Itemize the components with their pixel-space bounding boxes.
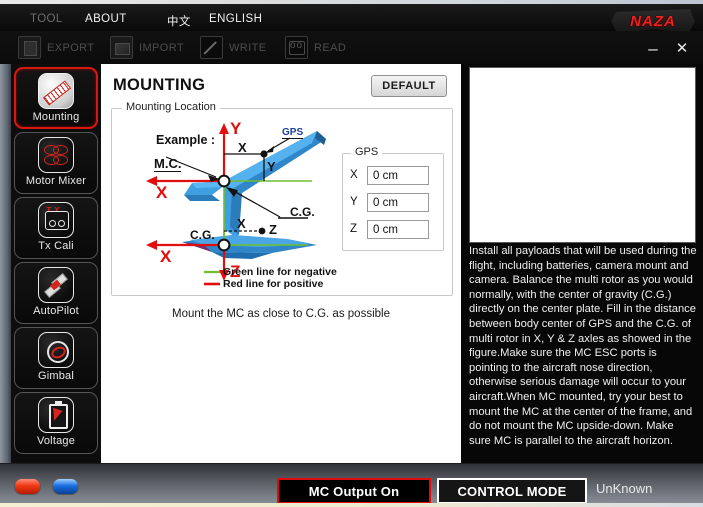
sidebar-label-mounting: Mounting: [33, 111, 80, 123]
battery-icon: [38, 397, 74, 433]
diagram-axis-x-left: X: [156, 183, 167, 203]
import-icon: [110, 36, 133, 59]
toolbar-button-read[interactable]: READ: [285, 36, 346, 59]
led-indicator-blue: [52, 478, 79, 495]
default-button[interactable]: DEFAULT: [371, 75, 447, 97]
transmitter-icon: TX: [38, 202, 74, 238]
naza-assistant-window: TOOL ABOUT 中文 ENGLISH NAZA EXPORT IMPORT…: [0, 0, 703, 507]
export-icon: [18, 36, 41, 59]
gps-offset-group: GPS X 0 cm Y 0 cm Z 0 cm: [342, 153, 444, 251]
sidebar-item-motor-mixer[interactable]: Motor Mixer: [14, 132, 98, 194]
propeller-icon: [38, 137, 74, 173]
toolbar: EXPORT IMPORT WRITE READ – ✕: [0, 31, 703, 65]
toolbar-label-export: EXPORT: [47, 42, 94, 54]
gimbal-icon: [38, 332, 74, 368]
sidebar-label-tx-cali: Tx Cali: [38, 240, 74, 252]
gps-input-y[interactable]: 0 cm: [367, 193, 429, 212]
diagram-cg-label-top: C.G.: [290, 205, 315, 219]
mounting-diagram: Example : M.C. GPS C.G. C.G. Y X X Y X X…: [112, 109, 362, 293]
gps-group-legend: GPS: [351, 146, 382, 158]
menu-item-chinese[interactable]: 中文: [167, 13, 191, 29]
instructions-text: Install all payloads that will be used d…: [469, 244, 698, 456]
read-icon: [285, 36, 308, 59]
sidebar-label-gimbal: Gimbal: [38, 370, 74, 382]
mounting-location-group: Mounting Location: [111, 108, 453, 296]
mc-output-status-badge: MC Output On: [277, 478, 431, 504]
led-indicator-red: [14, 478, 41, 495]
preview-panel: [469, 67, 696, 243]
window-bottom-edge: [0, 503, 703, 507]
diagram-legend-negative: Green line for negative: [223, 266, 337, 278]
diagram-legend-positive: Red line for positive: [223, 278, 323, 290]
diagram-example-label: Example :: [156, 133, 215, 147]
menu-item-tool[interactable]: TOOL: [30, 13, 63, 25]
gps-axis-label-x: X: [350, 169, 360, 181]
gps-axis-label-z: Z: [350, 223, 360, 235]
diagram-offset-y-top: Y: [267, 159, 276, 174]
sidebar-item-voltage[interactable]: Voltage: [14, 392, 98, 454]
sidebar-label-autopilot: AutoPilot: [33, 305, 79, 317]
sidebar-item-autopilot[interactable]: AutoPilot: [14, 262, 98, 324]
toolbar-label-import: IMPORT: [139, 42, 184, 54]
close-icon[interactable]: ✕: [673, 39, 691, 57]
toolbar-label-read: READ: [314, 42, 346, 54]
diagram-cg-label-side: C.G.: [190, 228, 215, 242]
sidebar-item-gimbal[interactable]: Gimbal: [14, 327, 98, 389]
menu-item-about[interactable]: ABOUT: [85, 13, 127, 25]
toolbar-button-import[interactable]: IMPORT: [110, 36, 184, 59]
gps-input-x[interactable]: 0 cm: [367, 166, 429, 185]
write-icon: [200, 36, 223, 59]
gps-row-z: Z 0 cm: [350, 218, 429, 240]
control-mode-value: UnKnown: [596, 481, 652, 496]
gps-axis-label-y: Y: [350, 196, 360, 208]
sidebar-item-tx-cali[interactable]: TX Tx Cali: [14, 197, 98, 259]
menu-bar: TOOL ABOUT 中文 ENGLISH NAZA: [0, 4, 703, 32]
sidebar: Mounting Motor Mixer TX Tx Cali AutoPilo…: [0, 64, 102, 463]
control-mode-label: CONTROL MODE: [437, 478, 587, 504]
logo-text: NAZA: [630, 13, 676, 30]
gps-row-y: Y 0 cm: [350, 191, 429, 213]
main-content-panel: MOUNTING DEFAULT Mounting Location: [101, 64, 461, 463]
diagram-offset-x-top: X: [238, 140, 247, 155]
diagram-axis-y: Y: [230, 119, 241, 139]
minimize-icon[interactable]: –: [644, 39, 662, 57]
sidebar-label-motor-mixer: Motor Mixer: [26, 175, 86, 187]
diagram-offset-z-side: Z: [269, 222, 277, 237]
toolbar-label-write: WRITE: [229, 42, 266, 54]
mounting-hint-text: Mount the MC as close to C.G. as possibl…: [101, 308, 461, 320]
sidebar-scroll-rail[interactable]: [0, 64, 11, 463]
sidebar-item-mounting[interactable]: Mounting: [14, 67, 98, 129]
satellite-icon: [38, 267, 74, 303]
diagram-gps-label: GPS: [282, 127, 303, 139]
gps-input-z[interactable]: 0 cm: [367, 220, 429, 239]
menu-item-english[interactable]: ENGLISH: [209, 13, 262, 25]
ruler-icon: [38, 73, 74, 109]
diagram-mc-label: M.C.: [154, 156, 181, 172]
diagram-axis-x-side: X: [160, 247, 171, 267]
toolbar-button-export[interactable]: EXPORT: [18, 36, 94, 59]
gps-row-x: X 0 cm: [350, 164, 429, 186]
toolbar-button-write[interactable]: WRITE: [200, 36, 266, 59]
page-title: MOUNTING: [113, 76, 205, 95]
diagram-offset-x-side: X: [237, 216, 246, 231]
sidebar-label-voltage: Voltage: [37, 435, 75, 447]
right-panel: Install all payloads that will be used d…: [461, 64, 703, 463]
